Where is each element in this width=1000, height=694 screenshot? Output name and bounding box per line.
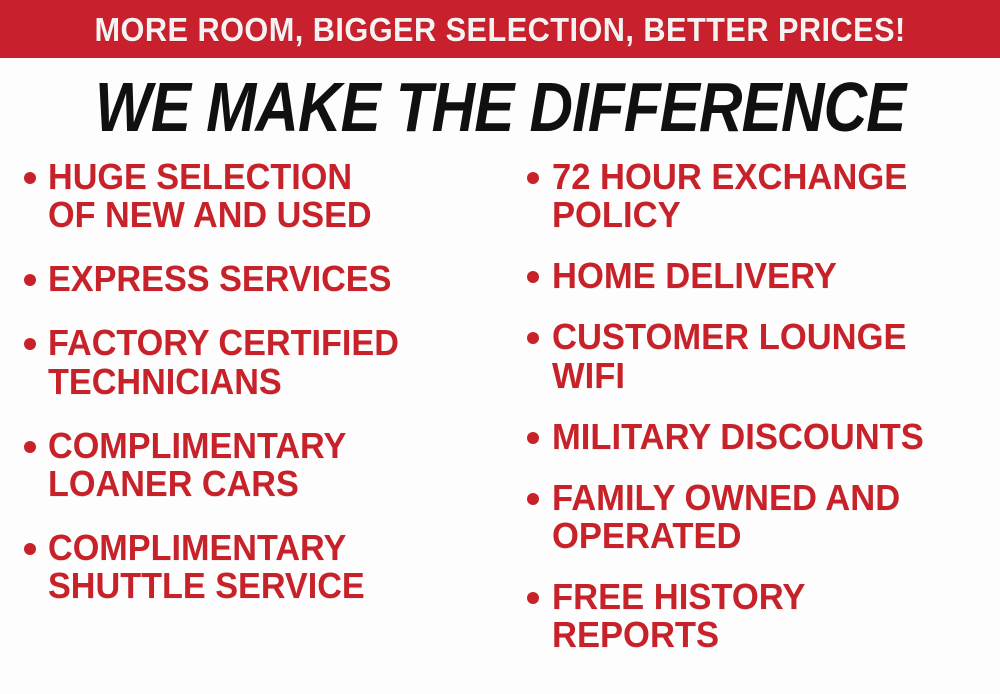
- benefits-columns: HUGE SELECTION OF NEW AND USED EXPRESS S…: [0, 158, 1000, 694]
- bullet-dot-icon: [24, 172, 36, 184]
- list-item: MILITARY DISCOUNTS: [518, 418, 1000, 456]
- list-item: COMPLIMENTARY SHUTTLE SERVICE: [14, 529, 506, 605]
- list-item: FAMILY OWNED AND OPERATED: [518, 479, 1000, 555]
- bullet-dot-icon: [24, 274, 36, 286]
- promotional-poster: MORE ROOM, BIGGER SELECTION, BETTER PRIC…: [0, 0, 1000, 694]
- bullet-dot-icon: [527, 332, 539, 344]
- benefits-column-right: 72 HOUR EXCHANGE POLICY HOME DELIVERY CU…: [518, 158, 1000, 694]
- bullet-dot-icon: [527, 592, 539, 604]
- benefits-column-left: HUGE SELECTION OF NEW AND USED EXPRESS S…: [14, 158, 506, 694]
- bullet-dot-icon: [24, 441, 36, 453]
- bullet-dot-icon: [527, 271, 539, 283]
- list-item: 72 HOUR EXCHANGE POLICY: [518, 158, 1000, 234]
- list-item-label: FACTORY CERTIFIED TECHNICIANS: [48, 324, 483, 400]
- bullet-dot-icon: [527, 432, 539, 444]
- main-headline: WE MAKE THE DIFFERENCE: [95, 72, 906, 142]
- bullet-dot-icon: [527, 172, 539, 184]
- list-item-label: HOME DELIVERY: [552, 257, 982, 295]
- banner-headline-text: MORE ROOM, BIGGER SELECTION, BETTER PRIC…: [94, 13, 905, 46]
- top-banner: MORE ROOM, BIGGER SELECTION, BETTER PRIC…: [0, 0, 1000, 58]
- list-item: FREE HISTORY REPORTS: [518, 578, 1000, 654]
- list-item-label: 72 HOUR EXCHANGE POLICY: [552, 158, 982, 234]
- list-item-label: COMPLIMENTARY LOANER CARS: [48, 427, 483, 503]
- bullet-dot-icon: [24, 543, 36, 555]
- list-item-label: MILITARY DISCOUNTS: [552, 418, 982, 456]
- list-item: CUSTOMER LOUNGE WIFI: [518, 318, 1000, 394]
- bullet-dot-icon: [24, 338, 36, 350]
- list-item-label: HUGE SELECTION OF NEW AND USED: [48, 158, 483, 234]
- bullet-dot-icon: [527, 493, 539, 505]
- list-item-label: FREE HISTORY REPORTS: [552, 578, 982, 654]
- list-item: EXPRESS SERVICES: [14, 260, 506, 298]
- list-item: HOME DELIVERY: [518, 257, 1000, 295]
- list-item-label: CUSTOMER LOUNGE WIFI: [552, 318, 982, 394]
- headline-container: WE MAKE THE DIFFERENCE: [0, 58, 1000, 155]
- list-item-label: EXPRESS SERVICES: [48, 260, 483, 298]
- list-item: COMPLIMENTARY LOANER CARS: [14, 427, 506, 503]
- list-item: HUGE SELECTION OF NEW AND USED: [14, 158, 506, 234]
- list-item-label: FAMILY OWNED AND OPERATED: [552, 479, 982, 555]
- list-item-label: COMPLIMENTARY SHUTTLE SERVICE: [48, 529, 483, 605]
- list-item: FACTORY CERTIFIED TECHNICIANS: [14, 324, 506, 400]
